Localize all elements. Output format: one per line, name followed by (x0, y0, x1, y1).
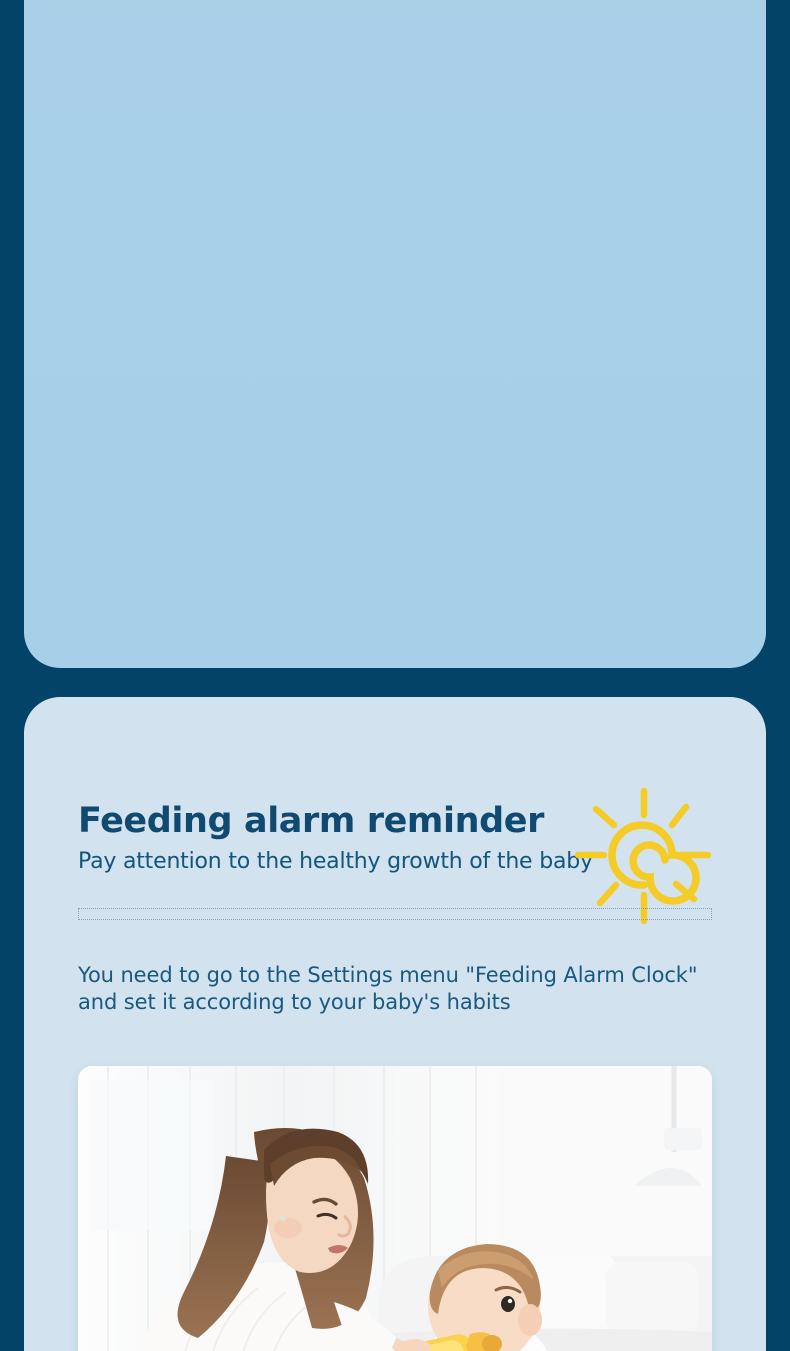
section-divider (78, 908, 712, 920)
feeding-photo (78, 1066, 712, 1351)
feeding-instructions: You need to go to the Settings menu "Fee… (78, 962, 723, 1016)
zoom-feature-panel: OK (24, 0, 766, 668)
feeding-subtitle: Pay attention to the healthy growth of t… (78, 849, 718, 875)
feeding-title: Feeding alarm reminder (78, 801, 718, 842)
feeding-header: Feeding alarm reminder Pay attention to … (78, 801, 718, 876)
feeding-photo-image (78, 1066, 712, 1351)
